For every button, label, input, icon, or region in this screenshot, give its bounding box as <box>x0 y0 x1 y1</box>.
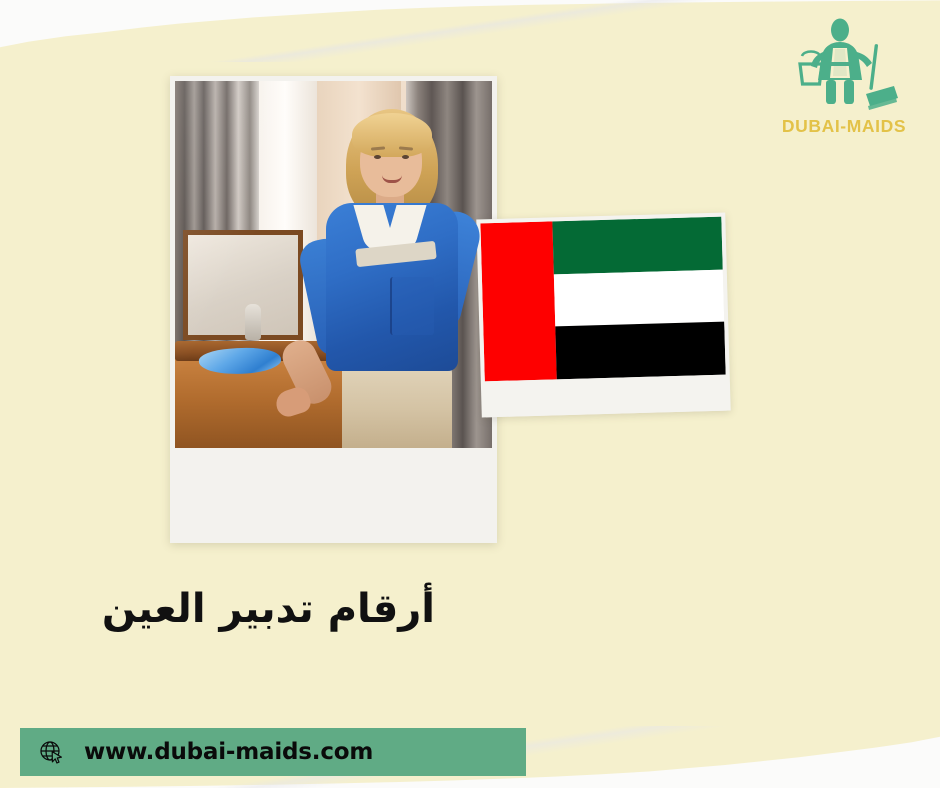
maid-with-bucket-and-mop-icon <box>790 18 898 114</box>
globe-cursor-icon <box>38 739 64 765</box>
flag-band-green <box>552 217 722 274</box>
flag-polaroid-strip <box>485 375 727 418</box>
polaroid-caption-strip <box>175 448 492 543</box>
maid-hair-fringe <box>352 113 432 157</box>
maid-figure <box>298 81 484 448</box>
maid-photo-polaroid <box>170 76 497 543</box>
uae-flag-image <box>480 217 725 382</box>
flag-band-black <box>555 322 725 379</box>
flag-bands <box>552 217 725 380</box>
maid-eye-left <box>374 155 381 159</box>
page-title: أرقام تدبير العين <box>0 584 940 634</box>
maid-eye-right <box>402 155 409 159</box>
website-footer-bar[interactable]: www.dubai-maids.com <box>20 728 526 776</box>
brand-logo: DUBAI-MAIDS <box>764 18 924 137</box>
brand-wordmark: DUBAI-MAIDS <box>764 116 924 137</box>
photo-scene <box>175 81 492 448</box>
flag-band-hoist-red <box>480 221 556 381</box>
maid-photo-image <box>175 81 492 448</box>
flag-band-white <box>554 269 724 326</box>
maid-pocket <box>390 277 434 335</box>
uae-flag-polaroid <box>476 213 730 418</box>
wall-mirror <box>183 230 303 340</box>
website-url[interactable]: www.dubai-maids.com <box>84 739 373 765</box>
poster-canvas: DUBAI-MAIDS <box>0 0 940 788</box>
